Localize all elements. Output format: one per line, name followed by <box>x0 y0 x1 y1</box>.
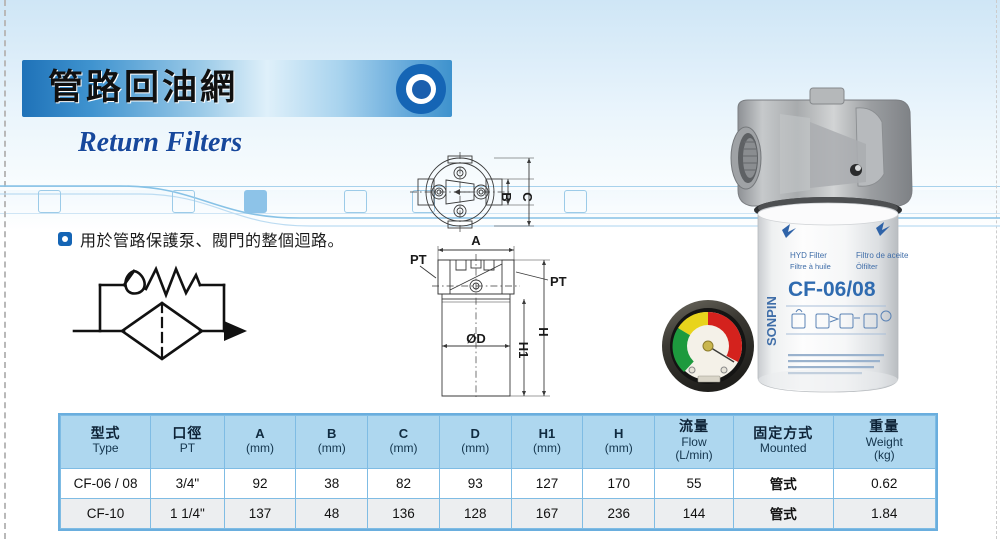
port-label-pt-right: PT <box>550 274 567 289</box>
col-header-flow-unit: (L/min) <box>656 449 732 462</box>
cell-type: CF-10 <box>61 498 151 528</box>
col-header-c-letter: C <box>369 427 438 442</box>
filter-head-casting <box>731 88 912 206</box>
technical-dimension-drawing: B C A ØD H1 H PT PT <box>398 150 588 400</box>
dimension-label-a: A <box>471 233 481 248</box>
col-header-h: H (mm) <box>583 416 655 469</box>
decorative-square-4 <box>344 190 367 213</box>
col-header-c-unit: (mm) <box>369 442 438 455</box>
cell-d: 93 <box>439 468 511 498</box>
col-header-h1-letter: H1 <box>513 427 582 442</box>
feature-description-row: 用於管路保護泵、閥門的整個迴路。 <box>58 227 344 251</box>
cell-a: 137 <box>224 498 296 528</box>
cell-h1: 127 <box>511 468 583 498</box>
decorative-square-3-filled <box>244 190 267 213</box>
cell-c: 136 <box>368 498 440 528</box>
dimension-label-h: H <box>536 327 551 336</box>
page-edge-dashed-left <box>4 0 6 539</box>
col-header-flow: 流量 Flow (L/min) <box>655 416 734 469</box>
label-olfilter: Ölfilter <box>856 262 878 271</box>
col-header-weight-en: Weight <box>835 436 934 449</box>
label-hyd-filter: HYD Filter <box>790 251 827 260</box>
table-row: CF-10 1 1/4" 137 48 136 128 167 236 144 … <box>61 498 936 528</box>
col-header-type-en: Type <box>62 442 149 455</box>
table-row: CF-06 / 08 3/4" 92 38 82 93 127 170 55 管… <box>61 468 936 498</box>
label-filtro-aceite: Filtro de aceite <box>856 251 909 260</box>
cell-b: 48 <box>296 498 368 528</box>
col-header-d-letter: D <box>441 427 510 442</box>
col-header-h1: H1 (mm) <box>511 416 583 469</box>
col-header-type-cn: 型式 <box>62 427 149 443</box>
flow-arrow <box>224 321 247 341</box>
col-header-type: 型式 Type <box>61 416 151 469</box>
product-photo: HYD Filter Filtro de aceite Filtre à hui… <box>660 78 1000 403</box>
col-header-mounted: 固定方式 Mounted <box>733 416 833 469</box>
pressure-indicator-gauge <box>662 300 754 392</box>
col-header-a: A (mm) <box>224 416 296 469</box>
decorative-square-1 <box>38 190 61 213</box>
dimension-label-b: B <box>499 192 514 201</box>
col-header-weight-unit: (kg) <box>835 449 934 462</box>
cell-h: 170 <box>583 468 655 498</box>
specification-table-wrapper: 型式 Type 口徑 PT A (mm) B (mm) <box>58 413 938 531</box>
cell-h1: 167 <box>511 498 583 528</box>
col-header-b: B (mm) <box>296 416 368 469</box>
decorative-square-2 <box>172 190 195 213</box>
bullseye-logo-icon <box>396 64 446 114</box>
cell-weight: 1.84 <box>833 498 935 528</box>
label-brand-sonpin: SONPIN <box>764 296 779 346</box>
col-header-weight-cn: 重量 <box>835 420 934 436</box>
cell-type: CF-06 / 08 <box>61 468 151 498</box>
col-header-d-unit: (mm) <box>441 442 510 455</box>
specification-table: 型式 Type 口徑 PT A (mm) B (mm) <box>60 415 936 529</box>
cell-flow: 144 <box>655 498 734 528</box>
cell-pt: 1 1/4" <box>151 498 224 528</box>
bullseye-ring <box>406 74 436 104</box>
dimension-label-c: C <box>520 192 535 202</box>
label-filtre-huile: Filtre à huile <box>790 262 831 271</box>
col-header-h1-unit: (mm) <box>513 442 582 455</box>
cell-a: 92 <box>224 468 296 498</box>
dimension-label-d: ØD <box>466 331 486 346</box>
col-header-mounted-cn: 固定方式 <box>735 427 832 443</box>
col-header-weight: 重量 Weight (kg) <box>833 416 935 469</box>
col-header-flow-cn: 流量 <box>656 420 732 436</box>
dimension-label-h1: H1 <box>516 342 531 359</box>
col-header-a-letter: A <box>226 427 295 442</box>
col-header-pt: 口徑 PT <box>151 416 224 469</box>
col-header-c: C (mm) <box>368 416 440 469</box>
cell-c: 82 <box>368 468 440 498</box>
bullseye-dot <box>412 80 431 99</box>
datasheet-page: 管路回油網 Return Filters 用於管路保護泵、閥門的整個迴路。 <box>0 0 1000 539</box>
filter-canister: HYD Filter Filtro de aceite Filtre à hui… <box>754 197 909 392</box>
col-header-flow-en: Flow <box>656 436 732 449</box>
page-title: 管路回油網 <box>48 66 238 110</box>
col-header-pt-en: PT <box>152 442 222 455</box>
cell-flow: 55 <box>655 468 734 498</box>
cell-mounted: 管式 <box>733 468 833 498</box>
table-header-row: 型式 Type 口徑 PT A (mm) B (mm) <box>61 416 936 469</box>
cell-pt: 3/4" <box>151 468 224 498</box>
col-header-h-unit: (mm) <box>584 442 653 455</box>
label-model-number: CF-06/08 <box>788 278 876 301</box>
bullet-target-icon <box>58 232 72 246</box>
hydraulic-filter-schematic <box>72 263 267 378</box>
col-header-d: D (mm) <box>439 416 511 469</box>
col-header-mounted-en: Mounted <box>735 442 832 455</box>
feature-description-text: 用於管路保護泵、閥門的整個迴路。 <box>80 227 344 251</box>
cell-h: 236 <box>583 498 655 528</box>
cell-b: 38 <box>296 468 368 498</box>
col-header-b-unit: (mm) <box>297 442 366 455</box>
cell-d: 128 <box>439 498 511 528</box>
cell-weight: 0.62 <box>833 468 935 498</box>
port-label-pt-left: PT <box>410 252 427 267</box>
col-header-h-letter: H <box>584 427 653 442</box>
col-header-a-unit: (mm) <box>226 442 295 455</box>
col-header-pt-cn: 口徑 <box>152 427 222 443</box>
cell-mounted: 管式 <box>733 498 833 528</box>
col-header-b-letter: B <box>297 427 366 442</box>
page-subtitle: Return Filters <box>78 127 242 159</box>
